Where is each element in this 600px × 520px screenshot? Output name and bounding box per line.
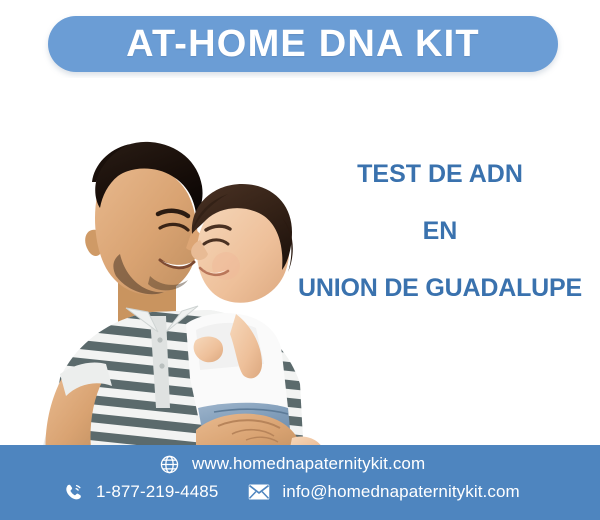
phone-item[interactable]: 1-877-219-4485 xyxy=(62,481,218,503)
footer-row-website: www.homednapaternitykit.com xyxy=(158,453,425,475)
envelope-icon xyxy=(248,481,270,503)
phone-text: 1-877-219-4485 xyxy=(96,482,218,502)
headline-block: TEST DE ADN EN UNION DE GUADALUPE xyxy=(290,160,590,302)
page-title: AT-HOME DNA KIT xyxy=(126,25,480,63)
poster: AT-HOME DNA KIT xyxy=(0,0,600,520)
headline-line-2: EN xyxy=(290,217,590,246)
footer-contact-bar: www.homednapaternitykit.com 1-877-219-44… xyxy=(0,445,600,520)
email-item[interactable]: info@homednapaternitykit.com xyxy=(248,481,519,503)
globe-icon xyxy=(158,453,180,475)
father-and-toddler-photo xyxy=(0,78,330,458)
phone-icon xyxy=(62,481,84,503)
headline-line-3: UNION DE GUADALUPE xyxy=(290,274,590,303)
header-banner: AT-HOME DNA KIT xyxy=(48,16,558,72)
email-text: info@homednapaternitykit.com xyxy=(282,482,519,502)
website-item[interactable]: www.homednapaternitykit.com xyxy=(158,453,425,475)
footer-row-phone-email: 1-877-219-4485 info@homednapaternitykit.… xyxy=(62,481,520,503)
website-text: www.homednapaternitykit.com xyxy=(192,454,425,474)
headline-line-1: TEST DE ADN xyxy=(290,160,590,189)
